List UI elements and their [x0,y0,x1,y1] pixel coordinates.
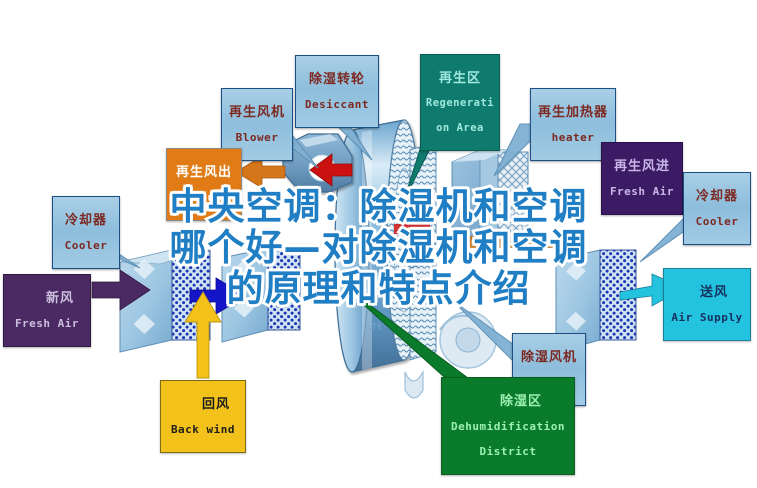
label-regeneration-area: 再生区 Regenerati on Area [420,54,500,151]
label-fresh-air-en: Fresh Air [8,318,86,330]
label-desiccant: 除湿转轮 Desiccant [295,55,379,128]
label-exhaust-en: Exhaust [171,192,237,204]
label-back-wind-cn: 回风 [165,397,241,411]
label-back-wind: 回风 Back wind [160,380,246,453]
label-heater-cn: 再生加热器 [535,105,611,119]
label-regeneration-fresh-air: 再生风进 Fresh Air [601,142,683,215]
label-heater-en: heater [535,132,611,144]
label-regen-fresh-cn: 再生风进 [606,159,678,173]
label-regen-fresh-en: Fresh Air [606,186,678,198]
regeneration-heater [452,150,562,248]
label-cooler-left-cn: 冷却器 [57,213,115,227]
label-cooler-right-cn: 冷却器 [688,189,746,203]
label-regen-area-cn: 再生区 [425,71,495,85]
label-dehum-blower-cn: 除湿风机 [517,350,581,364]
label-desiccant-cn: 除湿转轮 [300,72,374,86]
label-dehum-district-en2: District [446,446,570,458]
label-air-supply-en: Air Supply [668,312,746,324]
label-back-wind-en: Back wind [165,424,241,436]
label-cooler-right-en: Cooler [688,216,746,228]
label-fresh-air: 新风 Fresh Air [3,274,91,347]
svg-text:xTt: xTt [366,323,382,333]
label-regen-area-en2: on Area [425,123,495,134]
label-cooler-left: 冷却器 Cooler [52,196,120,269]
diagram-canvas: xTt [0,0,757,488]
label-dehumidification-district: 除湿区 Dehumidification District [441,377,575,475]
label-dehum-district-cn: 除湿区 [446,394,570,408]
label-dehum-district-en1: Dehumidification [446,421,570,433]
label-regen-blower-cn: 再生风机 [226,105,288,119]
label-air-supply: 送风 Air Supply [663,268,751,341]
label-regen-area-en1: Regenerati [425,98,495,109]
label-desiccant-en: Desiccant [300,99,374,111]
label-cooler-right: 冷却器 Cooler [683,172,751,245]
label-cooler-left-en: Cooler [57,240,115,252]
label-fresh-air-cn: 新风 [8,291,86,305]
dehumidification-blower [440,312,496,368]
label-exhaust: 再生风出 Exhaust [166,148,242,221]
label-exhaust-cn: 再生风出 [171,165,237,179]
label-air-supply-cn: 送风 [668,285,746,299]
label-regen-blower-en: Blower [226,132,288,144]
